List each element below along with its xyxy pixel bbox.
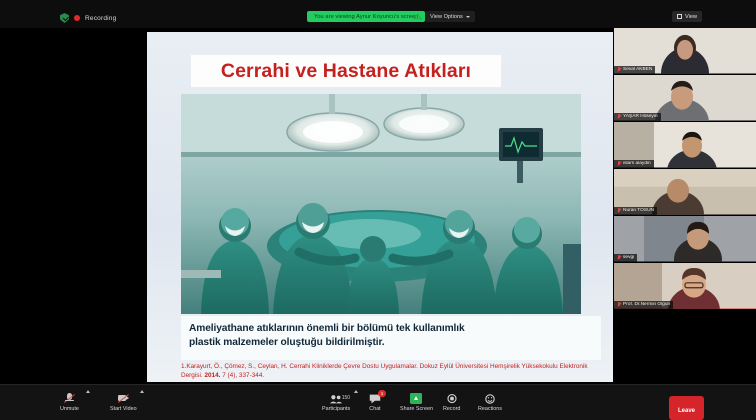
camera-muted-icon xyxy=(116,392,130,404)
unmute-button[interactable]: Unmute xyxy=(60,392,79,412)
citation-year: 2014. xyxy=(204,372,220,379)
record-button[interactable]: Record xyxy=(443,392,460,412)
zoom-meeting-window: Recording You are viewing Aynur Koyuncu'… xyxy=(0,0,756,420)
share-screen-icon xyxy=(410,393,422,404)
mute-slash xyxy=(118,394,129,403)
reactions-smiley-icon xyxy=(483,392,497,404)
slide-caption-line-2: plastik malzemeler oluştuğu bildirilmişt… xyxy=(189,336,593,350)
recording-label: Recording xyxy=(85,15,116,22)
chevron-down-icon xyxy=(466,16,470,18)
participants-label: Participants xyxy=(322,406,350,412)
participant-name: sevgi xyxy=(623,255,634,260)
record-dot-icon xyxy=(74,15,80,21)
slide-citation: 1.Karayurt, Ö., Çömez, S., Ceylan, H. Ce… xyxy=(181,362,601,381)
audio-options-chevron-icon[interactable] xyxy=(86,390,90,393)
chat-button[interactable]: 1 Chat xyxy=(368,392,382,412)
screen-share-banner-text: You are viewing Aynur Koyuncu's screen xyxy=(314,14,418,20)
screen-share-banner: You are viewing Aynur Koyuncu's screen xyxy=(307,11,425,22)
participants-chevron-icon[interactable] xyxy=(354,390,358,393)
slide-caption-box: Ameliyathane atıklarının önemli bir bölü… xyxy=(181,316,601,360)
participant-name-bar: Prof. Dr.Nermin Olgun xyxy=(614,301,673,309)
microphone-muted-icon xyxy=(617,161,621,167)
view-options-button[interactable]: View Options xyxy=(425,11,475,22)
mute-slash xyxy=(64,394,75,403)
unmute-label: Unmute xyxy=(60,406,79,412)
presentation-slide: Cerrahi ve Hastane Atıkları xyxy=(147,32,613,382)
operating-room-photo xyxy=(181,94,581,314)
shared-screen-stage: Cerrahi ve Hastane Atıkları xyxy=(0,28,612,384)
microphone-muted-icon xyxy=(62,392,76,404)
participants-button[interactable]: 150 Participants xyxy=(322,392,350,412)
meeting-controls-toolbar: Unmute Start Video 150 Participants xyxy=(0,384,756,420)
shield-icon xyxy=(60,13,69,23)
participant-tile[interactable]: sevgi xyxy=(614,216,756,262)
microphone-muted-icon xyxy=(617,302,621,308)
chat-bubble-icon: 1 xyxy=(368,392,382,404)
participant-tile[interactable]: islam alaydin xyxy=(614,122,756,168)
participant-name: Seval AKBEN xyxy=(623,67,652,72)
participant-name-bar: Seval AKBEN xyxy=(614,66,655,74)
participant-name: islam alaydin xyxy=(623,161,651,166)
view-layout-button[interactable]: View xyxy=(672,11,702,22)
participant-tile[interactable]: YAŞAR Hüseyin xyxy=(614,75,756,121)
citation-text-part-2: 7 (4), 337-344. xyxy=(220,372,264,379)
meeting-top-bar: Recording You are viewing Aynur Koyuncu'… xyxy=(0,0,756,28)
chat-unread-badge: 1 xyxy=(378,390,386,397)
microphone-muted-icon xyxy=(617,255,621,261)
participant-name-bar: YAŞAR Hüseyin xyxy=(614,113,661,121)
participant-name-bar: Nuran TOSUN xyxy=(614,207,657,215)
leave-label: Leave xyxy=(678,408,695,414)
share-screen-label: Share Screen xyxy=(400,406,433,412)
participant-name-bar: sevgi xyxy=(614,254,637,262)
start-video-label: Start Video xyxy=(110,406,137,412)
participant-tile[interactable]: Seval AKBEN xyxy=(614,28,756,74)
slide-title-container: Cerrahi ve Hastane Atıkları xyxy=(191,55,501,87)
page-title: Cerrahi ve Hastane Atıkları xyxy=(221,60,471,83)
record-circle-icon xyxy=(445,392,459,404)
video-options-chevron-icon[interactable] xyxy=(140,390,144,393)
microphone-muted-icon xyxy=(617,208,621,214)
start-video-button[interactable]: Start Video xyxy=(110,392,137,412)
chat-label: Chat xyxy=(369,406,380,412)
participants-count: 150 xyxy=(342,395,350,401)
view-button-label: View xyxy=(685,14,697,20)
participant-name: YAŞAR Hüseyin xyxy=(623,114,658,119)
screen-share-icon xyxy=(413,12,422,21)
participant-tile-active-speaker[interactable]: Prof. Dr.Nermin Olgun xyxy=(614,263,756,309)
participant-tile[interactable]: Nuran TOSUN xyxy=(614,169,756,215)
grid-view-icon xyxy=(677,14,682,19)
people-icon: 150 xyxy=(329,392,343,404)
reactions-button[interactable]: Reactions xyxy=(478,392,502,412)
view-options-label: View Options xyxy=(430,14,463,20)
participant-video-strip: Seval AKBEN YAŞAR Hüseyin xyxy=(614,28,756,384)
participant-name-bar: islam alaydin xyxy=(614,160,654,168)
participant-name: Prof. Dr.Nermin Olgun xyxy=(623,302,670,307)
recording-indicator-group: Recording xyxy=(60,13,116,23)
microphone-muted-icon xyxy=(617,114,621,120)
record-label: Record xyxy=(443,406,460,412)
share-screen-button[interactable]: Share Screen xyxy=(400,392,433,412)
microphone-muted-icon xyxy=(617,67,621,73)
leave-button[interactable]: Leave xyxy=(669,396,704,420)
participant-name: Nuran TOSUN xyxy=(623,208,654,213)
slide-caption-line-1: Ameliyathane atıklarının önemli bir bölü… xyxy=(189,322,593,336)
reactions-label: Reactions xyxy=(478,406,502,412)
